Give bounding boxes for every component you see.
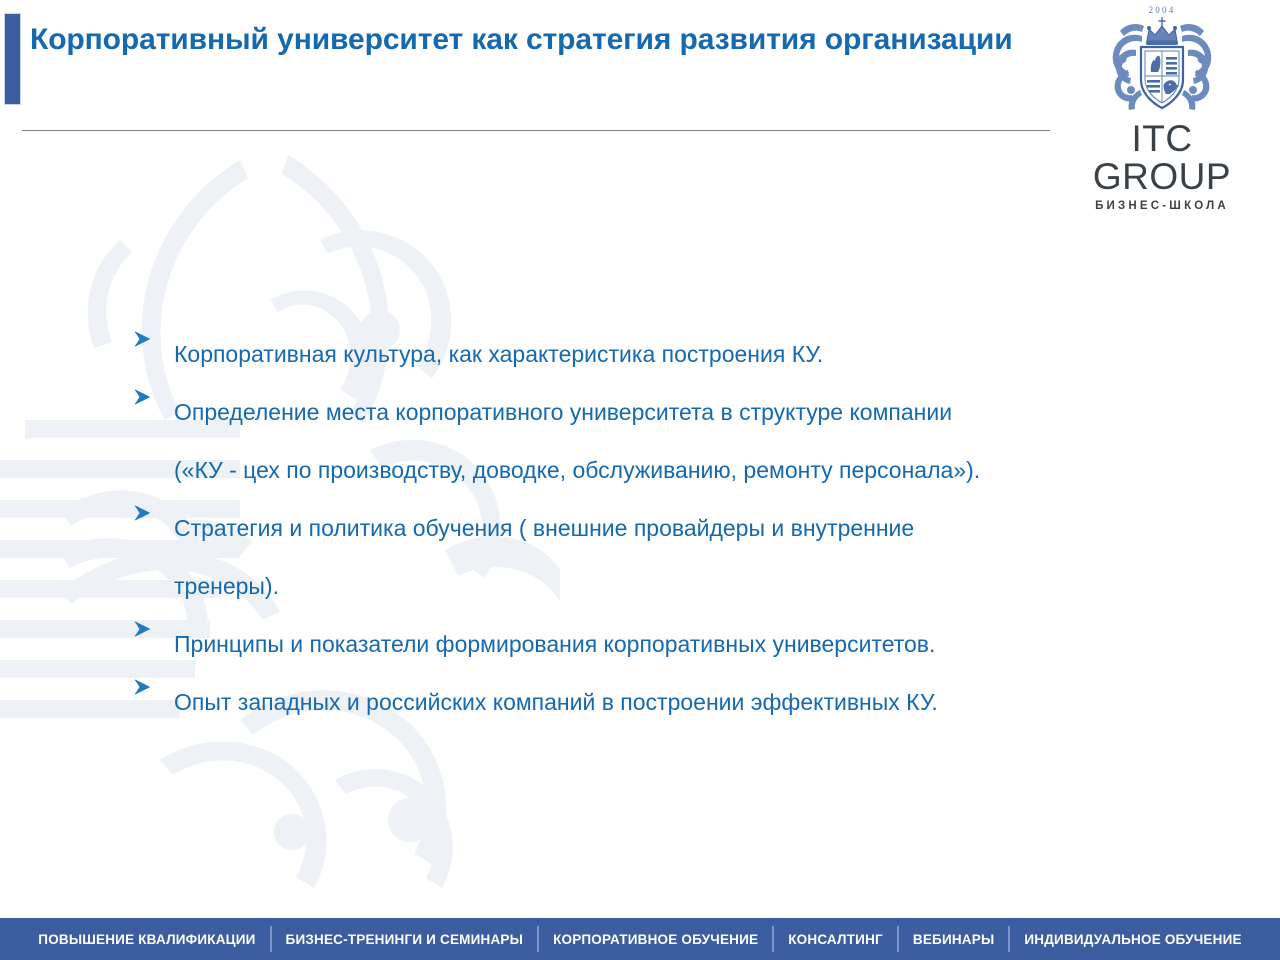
arrow-bullet-icon — [132, 615, 154, 639]
bullet-item: Стратегия и политика обучения ( внешние … — [132, 499, 1242, 615]
bullet-item: Опыт западных и российских компаний в по… — [132, 673, 1242, 731]
bullet-text: Принципы и показатели формирования корпо… — [174, 615, 1242, 673]
bullet-text: Определение места корпоративного универс… — [174, 383, 1242, 499]
logo-wordmark: ITC GROUP — [1062, 120, 1262, 196]
logo-subtitle: БИЗНЕС-ШКОЛА — [1062, 200, 1262, 212]
bullet-list: Корпоративная культура, как характеристи… — [132, 325, 1242, 731]
bullet-item: Корпоративная культура, как характеристи… — [132, 325, 1242, 383]
bullet-text: Опыт западных и российских компаний в по… — [174, 673, 1242, 731]
page-title: Корпоративный университет как стратегия … — [30, 21, 1030, 59]
bullet-text: Корпоративная культура, как характеристи… — [174, 325, 1242, 383]
logo: 2004 — [1062, 2, 1262, 212]
bullet-item: Принципы и показатели формирования корпо… — [132, 615, 1242, 673]
bottom-nav-item[interactable]: КОНСАЛТИНГ — [774, 932, 897, 947]
svg-text:2004: 2004 — [1149, 5, 1176, 15]
presentation-slide: Корпоративный университет как стратегия … — [0, 0, 1280, 960]
bottom-nav-bar: ПОВЫШЕНИЕ КВАЛИФИКАЦИИБИЗНЕС-ТРЕНИНГИ И … — [0, 918, 1280, 960]
bullet-item: Определение места корпоративного универс… — [132, 383, 1242, 499]
bottom-nav-item[interactable]: КОРПОРАТИВНОЕ ОБУЧЕНИЕ — [539, 932, 772, 947]
arrow-bullet-icon — [132, 325, 154, 349]
arrow-bullet-icon — [132, 499, 154, 523]
arrow-bullet-icon — [132, 673, 154, 697]
title-accent-bar — [4, 13, 21, 105]
crest-icon: 2004 — [1100, 2, 1224, 118]
bottom-nav-item[interactable]: ВЕБИНАРЫ — [899, 932, 1008, 947]
title-divider — [22, 130, 1050, 131]
bottom-nav-item[interactable]: ИНДИВИДУАЛЬНОЕ ОБУЧЕНИЕ — [1010, 932, 1255, 947]
bullet-text: Стратегия и политика обучения ( внешние … — [174, 499, 1242, 615]
arrow-bullet-icon — [132, 383, 154, 407]
bottom-nav-item[interactable]: БИЗНЕС-ТРЕНИНГИ И СЕМИНАРЫ — [272, 932, 538, 947]
bottom-nav-item[interactable]: ПОВЫШЕНИЕ КВАЛИФИКАЦИИ — [24, 932, 269, 947]
